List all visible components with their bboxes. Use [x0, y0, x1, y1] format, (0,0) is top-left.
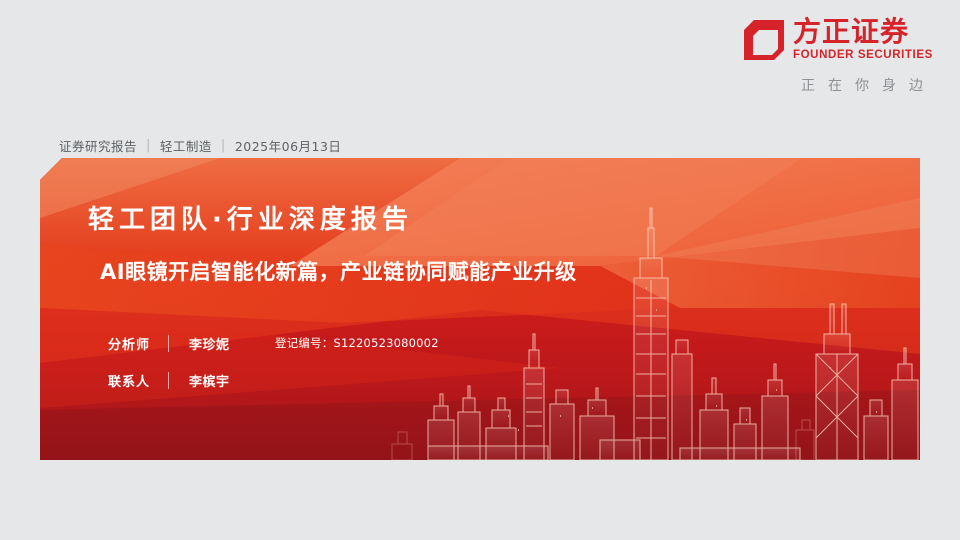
breadcrumb-separator: |: [221, 138, 226, 153]
meta-divider: [168, 372, 169, 389]
analyst-reg-label: 登记编号：: [275, 335, 334, 351]
banner-content: 轻工团队·行业深度报告 AI眼镜开启智能化新篇，产业链协同赋能产业升级 分析师 …: [40, 158, 920, 460]
analyst-row: 分析师 李珍妮 登记编号： S1220523080002: [108, 330, 439, 356]
contact-name: 李槟宇: [189, 371, 275, 390]
company-logo: 方正证券 FOUNDER SECURITIES 正在你身边: [742, 16, 938, 108]
logo-tagline: 正在你身边: [742, 75, 938, 95]
logo-wordmark: 方正证券 FOUNDER SECURITIES: [793, 18, 933, 62]
logo-name-en: FOUNDER SECURITIES: [793, 50, 933, 62]
report-cover-banner: 轻工团队·行业深度报告 AI眼镜开启智能化新篇，产业链协同赋能产业升级 分析师 …: [40, 158, 920, 460]
breadcrumb-item-industry: 轻工制造: [160, 136, 212, 155]
breadcrumb-item-date: 2025年06月13日: [235, 136, 342, 155]
contact-label: 联系人: [108, 371, 166, 390]
analyst-name: 李珍妮: [189, 334, 275, 353]
breadcrumb-item-report-type: 证券研究报告: [59, 136, 137, 155]
logo-name-cn: 方正证券: [793, 18, 933, 46]
contact-row: 联系人 李槟宇: [108, 367, 439, 393]
page-header: 方正证券 FOUNDER SECURITIES 正在你身边: [0, 0, 960, 124]
breadcrumb-separator: |: [146, 138, 151, 153]
banner-title: 轻工团队·行业深度报告: [88, 199, 413, 236]
founder-cube-icon: [742, 18, 786, 62]
logo-row: 方正证券 FOUNDER SECURITIES: [742, 16, 938, 64]
banner-subtitle: AI眼镜开启智能化新篇，产业链协同赋能产业升级: [100, 256, 577, 286]
breadcrumb: 证券研究报告 | 轻工制造 | 2025年06月13日: [59, 136, 341, 155]
banner-meta-list: 分析师 李珍妮 登记编号： S1220523080002 联系人 李槟宇: [108, 330, 439, 393]
analyst-reg-value: S1220523080002: [334, 336, 439, 350]
analyst-label: 分析师: [108, 334, 166, 353]
meta-divider: [168, 335, 169, 352]
